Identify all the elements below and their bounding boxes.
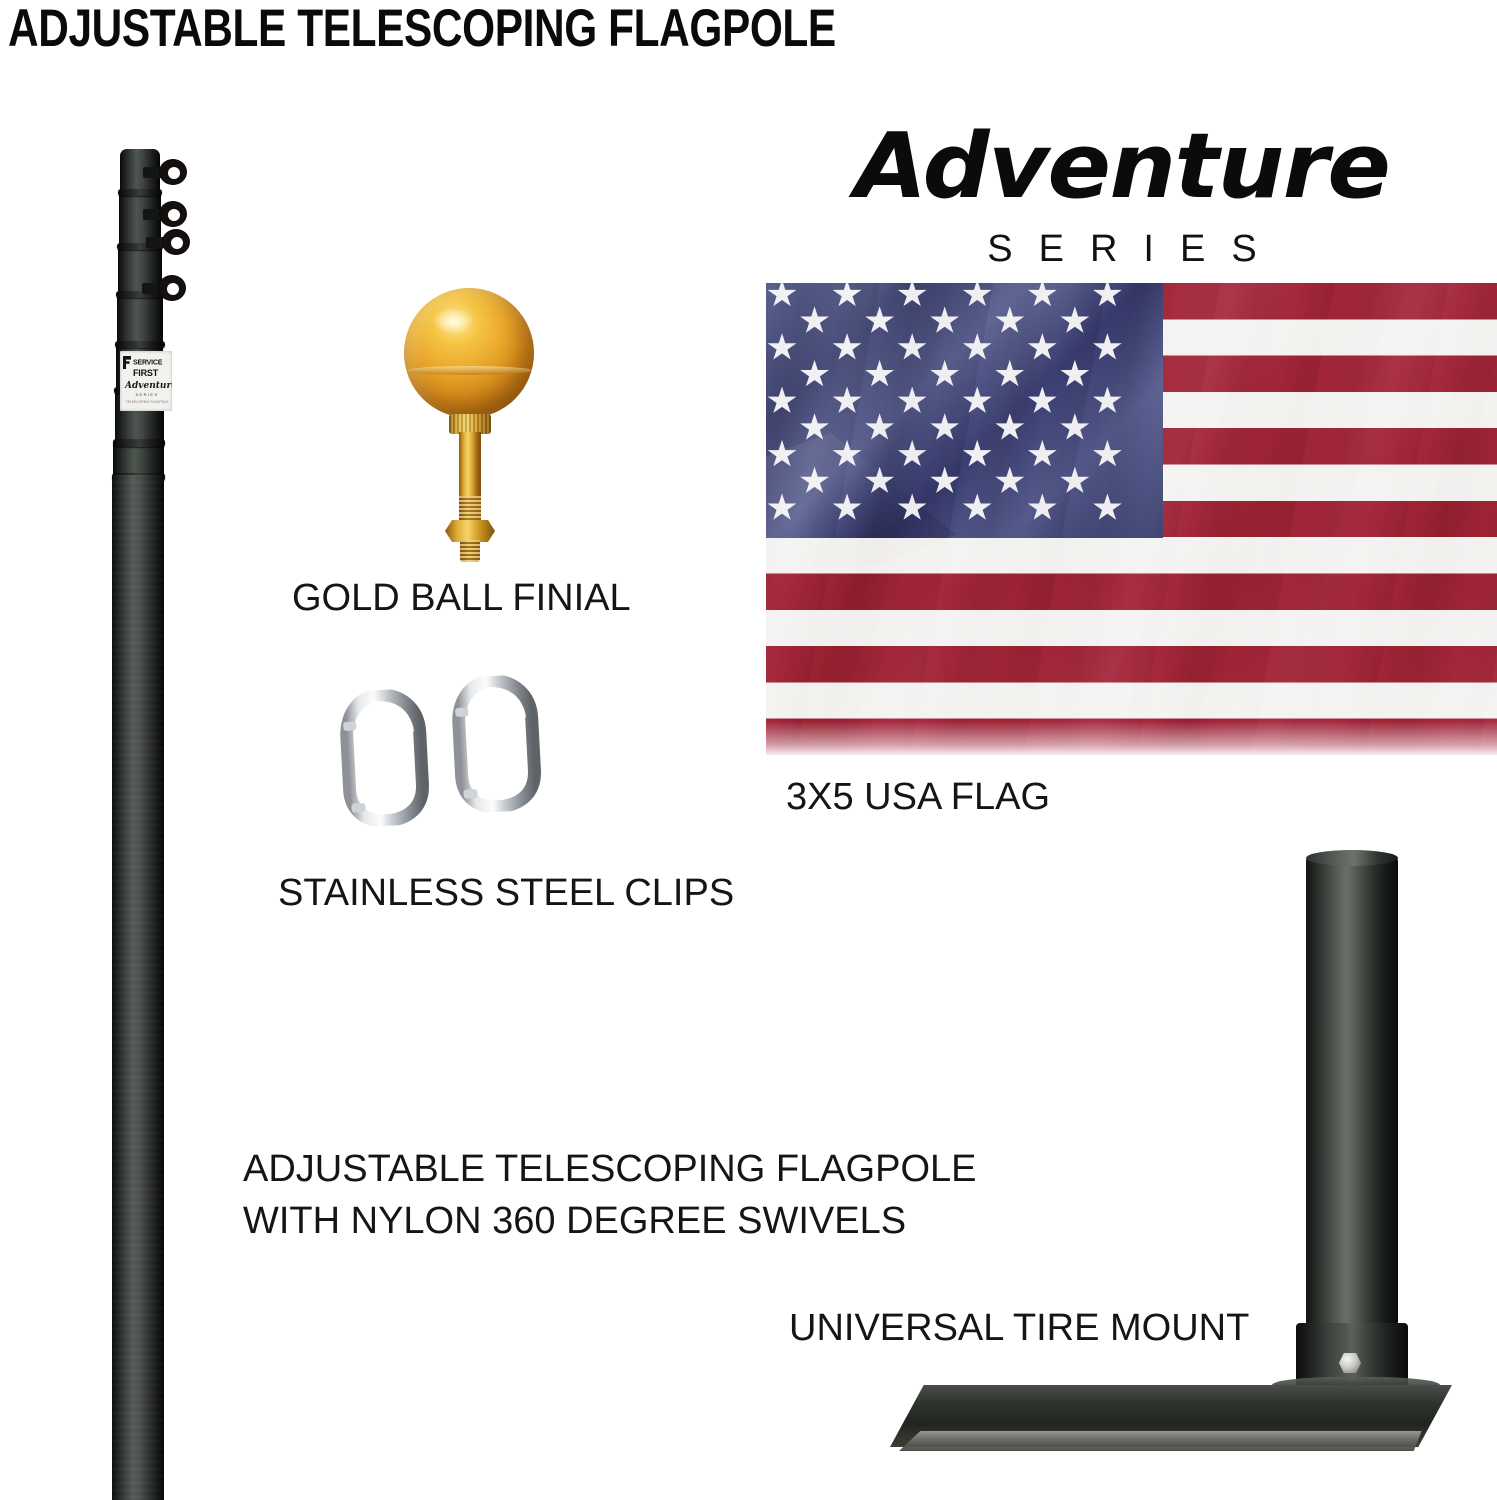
pole-collar-4 [115,341,165,348]
finial-highlight [432,308,474,334]
finial-collar [449,414,491,434]
nylon-swivel-ring-3 [146,229,190,255]
star-icon [832,333,862,362]
star-icon [767,387,797,416]
star-icon [1060,360,1090,389]
logo-text-service: SERVICE [133,359,162,366]
brand-name: Adventure [742,122,1497,212]
star-icon [930,360,960,389]
pole-main-shaft [112,475,164,1500]
caption-flagpole: ADJUSTABLE TELESCOPING FLAGPOLE WITH NYL… [243,1143,977,1247]
logo-mark-icon [123,356,131,369]
star-icon [962,333,992,362]
tire-mount-tube [1306,855,1398,1352]
caption-stainless-steel-clips: STAINLESS STEEL CLIPS [278,868,734,919]
star-icon [767,283,797,309]
star-icon [1060,467,1090,496]
star-icon [800,360,830,389]
swivel-eye [162,229,190,255]
star-icon [832,283,862,309]
star-icon [995,467,1025,496]
finial-ball [404,288,534,418]
brand-series-label: SERIES [757,230,1487,268]
star-icon [962,440,992,469]
star-icon [1027,387,1057,416]
product-usa-flag [766,283,1497,755]
star-icon [995,360,1025,389]
star-icon [1027,493,1057,522]
product-stainless-steel-clips [336,676,562,816]
swivel-eye [159,159,187,185]
tire-mount-plate-edge [890,1431,1452,1451]
product-gold-ball-finial [398,288,578,563]
star-icon [865,413,895,442]
pole-segment-4 [117,293,163,347]
nylon-swivel-ring-2 [143,201,187,227]
label-brand: Adventure [125,381,169,391]
star-icon [800,306,830,335]
star-icon [962,387,992,416]
star-icon [962,283,992,309]
star-icon [767,333,797,362]
finial-threaded-tip [460,540,480,562]
star-icon [897,333,927,362]
label-fine-print: TELESCOPING FLAGPOLE [124,400,170,404]
caption-flagpole-line-1: ADJUSTABLE TELESCOPING FLAGPOLE [243,1143,977,1195]
star-icon [1027,283,1057,309]
pole-collar-6 [113,439,165,447]
pole-collar-1 [118,189,162,196]
star-icon [865,306,895,335]
star-icon [1092,283,1122,309]
swivel-eye [159,201,187,227]
star-icon [962,493,992,522]
star-icon [1027,440,1057,469]
product-flagpole: SERVICE FIRST Adventure SERIES TELESCOPI… [98,145,228,1495]
star-icon [897,387,927,416]
nylon-swivel-ring-4 [142,275,186,301]
flag-bottom-fade [766,721,1497,755]
star-icon [1027,333,1057,362]
finial-seam [406,366,532,375]
star-icon [1092,387,1122,416]
caption-usa-flag: 3X5 USA FLAG [786,772,1050,823]
label-series: SERIES [125,392,169,397]
star-icon [930,467,960,496]
product-infographic: ADJUSTABLE TELESCOPING FLAGPOLE Adventur… [0,0,1497,1500]
carabiner-clip-1 [333,688,432,829]
star-icon [1060,306,1090,335]
brand-logo: Adventure SERIES [757,122,1497,272]
nylon-swivel-ring-1 [143,159,187,185]
star-icon [1092,333,1122,362]
swivel-eye [158,275,186,301]
star-icon [995,413,1025,442]
star-icon [930,306,960,335]
star-icon [930,413,960,442]
finial-hex-nut [445,520,495,542]
service-first-logo: SERVICE FIRST [123,356,169,378]
star-icon [1092,440,1122,469]
logo-text-first: FIRST [133,368,158,378]
tire-mount-tube-opening [1306,850,1398,866]
star-icon [995,306,1025,335]
star-icon [865,360,895,389]
star-icon [1060,413,1090,442]
caption-flagpole-line-2: WITH NYLON 360 DEGREE SWIVELS [243,1195,977,1247]
finial-threads [459,496,481,524]
product-label-sticker: SERVICE FIRST Adventure SERIES TELESCOPI… [120,351,172,411]
page-title: ADJUSTABLE TELESCOPING FLAGPOLE [8,2,836,55]
star-icon [897,440,927,469]
star-icon [1092,493,1122,522]
caption-gold-ball-finial: GOLD BALL FINIAL [292,573,631,624]
caption-universal-tire-mount: UNIVERSAL TIRE MOUNT [789,1303,1249,1354]
star-icon [897,283,927,309]
star-icon [832,387,862,416]
carabiner-clip-2 [445,674,544,815]
